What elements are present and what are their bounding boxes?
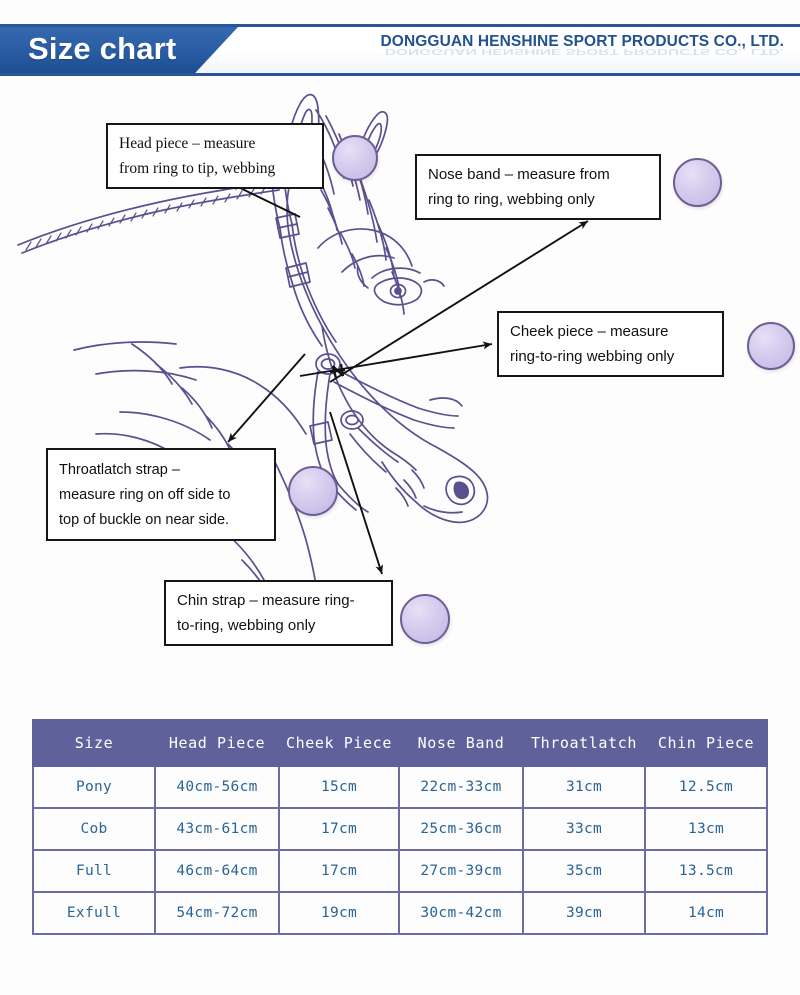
cell-cheek-piece: 15cm <box>279 766 399 808</box>
cell-nose-band: 30cm-42cm <box>399 892 523 934</box>
decorative-dot <box>288 466 338 516</box>
cell-throatlatch: 35cm <box>523 850 645 892</box>
callout-chin-strap: Chin strap – measure ring- to-ring, webb… <box>164 580 393 646</box>
page-title: Size chart <box>28 27 176 73</box>
cell-throatlatch: 39cm <box>523 892 645 934</box>
cell-nose-band: 27cm-39cm <box>399 850 523 892</box>
size-chart-page: Size chart DONGGUAN HENSHINE SPORT PRODU… <box>0 0 800 995</box>
table-row: Exfull 54cm-72cm 19cm 30cm-42cm 39cm 14c… <box>33 892 767 934</box>
callout-line: ring to ring, webbing only <box>428 187 650 212</box>
cell-size: Pony <box>33 766 155 808</box>
cell-size: Full <box>33 850 155 892</box>
cell-head-piece: 46cm-64cm <box>155 850 279 892</box>
column-header-cheek-piece: Cheek Piece <box>279 720 399 766</box>
cell-chin-piece: 12.5cm <box>645 766 767 808</box>
header-bottom-rule <box>0 73 800 76</box>
table-header-row: Size Head Piece Cheek Piece Nose Band Th… <box>33 720 767 766</box>
column-header-size: Size <box>33 720 155 766</box>
size-chart-table: Size Head Piece Cheek Piece Nose Band Th… <box>32 719 768 935</box>
page-header: Size chart DONGGUAN HENSHINE SPORT PRODU… <box>0 24 800 76</box>
callout-line: to-ring, webbing only <box>177 613 382 638</box>
cell-chin-piece: 13.5cm <box>645 850 767 892</box>
table-row: Cob 43cm-61cm 17cm 25cm-36cm 33cm 13cm <box>33 808 767 850</box>
callout-cheek-piece: Cheek piece – measure ring-to-ring webbi… <box>497 311 724 377</box>
column-header-nose-band: Nose Band <box>399 720 523 766</box>
cell-cheek-piece: 17cm <box>279 850 399 892</box>
callout-line: from ring to tip, webbing <box>119 156 313 181</box>
decorative-dot <box>400 594 450 644</box>
callout-line: Nose band – measure from <box>428 162 650 187</box>
cell-head-piece: 40cm-56cm <box>155 766 279 808</box>
cell-size: Exfull <box>33 892 155 934</box>
cell-cheek-piece: 19cm <box>279 892 399 934</box>
cell-head-piece: 43cm-61cm <box>155 808 279 850</box>
callout-line: Head piece – measure <box>119 131 313 156</box>
cell-head-piece: 54cm-72cm <box>155 892 279 934</box>
cell-chin-piece: 14cm <box>645 892 767 934</box>
cell-nose-band: 22cm-33cm <box>399 766 523 808</box>
column-header-throatlatch: Throatlatch <box>523 720 645 766</box>
cell-cheek-piece: 17cm <box>279 808 399 850</box>
cell-chin-piece: 13cm <box>645 808 767 850</box>
callout-head-piece: Head piece – measure from ring to tip, w… <box>106 123 324 189</box>
decorative-dot <box>332 135 378 181</box>
callout-line: top of buckle on near side. <box>59 508 265 533</box>
callout-line: Cheek piece – measure <box>510 319 713 344</box>
decorative-dot <box>673 158 722 207</box>
table-row: Pony 40cm-56cm 15cm 22cm-33cm 31cm 12.5c… <box>33 766 767 808</box>
column-header-head-piece: Head Piece <box>155 720 279 766</box>
company-name: DONGGUAN HENSHINE SPORT PRODUCTS CO., LT… <box>381 27 784 57</box>
cell-throatlatch: 33cm <box>523 808 645 850</box>
callout-throatlatch-strap: Throatlatch strap – measure ring on off … <box>46 448 276 541</box>
callout-line: ring-to-ring webbing only <box>510 344 713 369</box>
table-row: Full 46cm-64cm 17cm 27cm-39cm 35cm 13.5c… <box>33 850 767 892</box>
cell-nose-band: 25cm-36cm <box>399 808 523 850</box>
callout-line: Throatlatch strap – <box>59 458 265 483</box>
column-header-chin-piece: Chin Piece <box>645 720 767 766</box>
arrow-to-throatlatch <box>228 354 305 442</box>
decorative-dot <box>747 322 795 370</box>
horse-diagram: Head piece – measure from ring to tip, w… <box>0 82 800 692</box>
callout-nose-band: Nose band – measure from ring to ring, w… <box>415 154 661 220</box>
cell-throatlatch: 31cm <box>523 766 645 808</box>
callout-line: measure ring on off side to <box>59 483 265 508</box>
callout-line: Chin strap – measure ring- <box>177 588 382 613</box>
cell-size: Cob <box>33 808 155 850</box>
